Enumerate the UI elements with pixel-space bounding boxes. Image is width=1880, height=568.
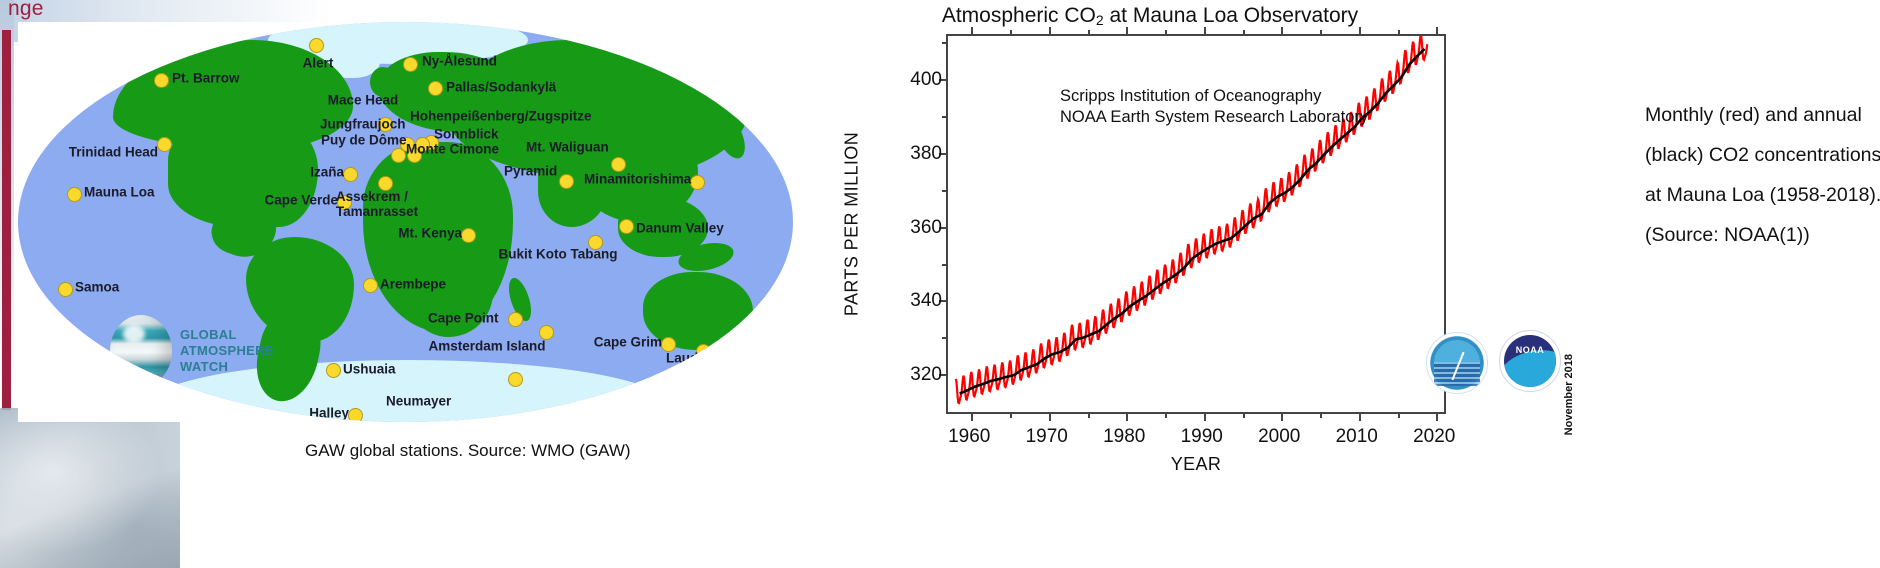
x-tick-mark	[1204, 412, 1206, 421]
station-label-hohenpeissenberg-zugspitze: Hohenpeißenberg/Zugspitze	[410, 110, 592, 125]
station-label-pallas-sodankyla: Pallas/Sodankylä	[446, 81, 556, 96]
x-tick-mark	[1204, 27, 1206, 36]
station-label-assekrem-tamanrasset: Assekrem / Tamanrasset	[336, 190, 418, 220]
y-tick-label: 400	[910, 69, 942, 91]
station-dot-danum-valley[interactable]	[619, 219, 634, 234]
y-minor-tick-mark	[942, 190, 948, 192]
chart-title-subscript: 2	[1096, 12, 1104, 28]
chart-title: Atmospheric CO2 at Mauna Loa Observatory	[830, 4, 1470, 28]
x-minor-tick-mark	[1398, 412, 1400, 418]
y-tick-label: 380	[910, 143, 942, 165]
gaw-logo: GLOBAL ATMOSPHERE WATCH	[110, 315, 270, 387]
x-tick-mark	[1436, 412, 1438, 421]
station-dot-cape-point-marker[interactable]	[508, 312, 523, 327]
x-tick-mark	[1281, 27, 1283, 36]
station-label-samoa: Samoa	[75, 281, 119, 296]
x-tick-mark	[1049, 412, 1051, 421]
station-label-sonnblick: Sonnblick	[434, 128, 499, 143]
x-tick-label: 1960	[948, 426, 990, 448]
landmass-new-zealand	[747, 337, 790, 381]
station-label-danum-valley: Danum Valley	[636, 222, 724, 237]
gaw-logo-text: GLOBAL ATMOSPHERE WATCH	[180, 327, 274, 375]
noaa-logo: NOAA	[1499, 330, 1561, 392]
x-tick-mark	[1126, 27, 1128, 36]
x-tick-label: 1970	[1026, 426, 1068, 448]
gaw-station-map: AlertNy-ÅlesundPt. BarrowPallas/Sodankyl…	[18, 22, 793, 422]
x-tick-label: 2020	[1413, 426, 1455, 448]
gaw-orb-icon	[110, 315, 172, 387]
x-tick-mark	[1359, 412, 1361, 421]
co2-chart: Atmospheric CO2 at Mauna Loa Observatory…	[830, 2, 1570, 502]
station-dot-minamitorishima[interactable]	[690, 175, 705, 190]
station-label-trinidad-head: Trinidad Head	[69, 146, 158, 161]
station-label-mauna-loa: Mauna Loa	[84, 186, 155, 201]
x-minor-tick-mark	[1320, 30, 1322, 36]
x-tick-mark	[1281, 412, 1283, 421]
station-label-ushuaia: Ushuaia	[343, 363, 396, 378]
station-dot-halley[interactable]	[348, 408, 363, 423]
station-label-bukit-koto-tabang: Bukit Koto Tabang	[499, 248, 618, 263]
x-minor-tick-mark	[1398, 30, 1400, 36]
station-label-neumayer: Neumayer	[386, 395, 451, 410]
station-dot-cape-grim[interactable]	[661, 337, 676, 352]
chart-date-stamp: November 2018	[1563, 354, 1575, 435]
station-dot-izana[interactable]	[343, 167, 358, 182]
station-label-pyramid: Pyramid	[504, 165, 557, 180]
x-minor-tick-mark	[1165, 412, 1167, 418]
station-dot-pallas-sodankyla[interactable]	[428, 81, 443, 96]
station-dot-cape-point[interactable]	[508, 372, 523, 387]
station-label-mace-head: Mace Head	[328, 94, 399, 109]
figure-caption: Monthly (red) and annual (black) CO2 con…	[1645, 96, 1880, 256]
chart-source-note: Scripps Institution of Oceanography NOAA…	[1060, 86, 1368, 129]
gaw-logo-line-3: WATCH	[180, 359, 274, 375]
background-accent-bar	[2, 30, 11, 410]
station-dot-mt-waliguan[interactable]	[611, 157, 626, 172]
x-axis-title: YEAR	[946, 454, 1446, 475]
x-minor-tick-mark	[1320, 412, 1322, 418]
station-dot-mauna-loa[interactable]	[67, 187, 82, 202]
y-tick-label: 360	[910, 217, 942, 239]
chart-title-main: Atmospheric CO	[942, 4, 1096, 27]
y-tick-label: 340	[910, 290, 942, 312]
station-dot-arembepe[interactable]	[363, 278, 378, 293]
station-dot-mt-kenya[interactable]	[461, 228, 476, 243]
station-dot-amsterdam-island[interactable]	[539, 325, 554, 340]
station-label-pt-barrow: Pt. Barrow	[172, 72, 240, 87]
y-minor-tick-mark	[942, 337, 948, 339]
gaw-logo-line-1: GLOBAL	[180, 327, 274, 343]
station-label-izana: Izaña	[310, 166, 344, 181]
x-minor-tick-mark	[1243, 412, 1245, 418]
station-label-amsterdam-island: Amsterdam Island	[428, 340, 545, 355]
gaw-logo-line-2: ATMOSPHERE	[180, 343, 274, 359]
x-tick-label: 2010	[1336, 426, 1378, 448]
x-minor-tick-mark	[1088, 30, 1090, 36]
x-minor-tick-mark	[1010, 30, 1012, 36]
station-dot-ushuaia[interactable]	[326, 363, 341, 378]
station-label-ny-alesund: Ny-Ålesund	[422, 55, 497, 70]
map-frame: AlertNy-ÅlesundPt. BarrowPallas/Sodankyl…	[18, 22, 793, 422]
y-axis-title: PARTS PER MILLION	[842, 132, 863, 316]
station-label-monte-cimone: Monte Cimone	[406, 143, 499, 158]
station-dot-pyramid[interactable]	[559, 174, 574, 189]
chart-title-rest: at Mauna Loa Observatory	[1104, 4, 1358, 27]
station-label-lauder: Lauder	[666, 352, 711, 367]
x-tick-mark	[1359, 27, 1361, 36]
background-photo	[0, 408, 180, 568]
station-dot-ny-alesund[interactable]	[403, 57, 418, 72]
noaa-logo-ring: NOAA	[1504, 335, 1556, 387]
station-label-mt-kenya: Mt. Kenya	[398, 227, 462, 242]
world-globe: AlertNy-ÅlesundPt. BarrowPallas/Sodankyl…	[18, 22, 793, 422]
y-tick-label: 320	[910, 364, 942, 386]
x-tick-mark	[971, 412, 973, 421]
plot-area: Scripps Institution of Oceanography NOAA…	[946, 34, 1446, 414]
x-minor-tick-mark	[1088, 412, 1090, 418]
y-minor-tick-mark	[942, 42, 948, 44]
x-minor-tick-mark	[1165, 30, 1167, 36]
station-label-alert: Alert	[303, 57, 334, 72]
noaa-logo-text: NOAA	[1504, 345, 1556, 355]
x-tick-mark	[1436, 27, 1438, 36]
slide-title: nge	[8, 0, 44, 21]
station-dot-alert[interactable]	[309, 38, 324, 53]
station-label-cape-point: Cape Point	[428, 312, 499, 327]
station-dot-trinidad-head[interactable]	[157, 137, 172, 152]
station-label-cape-verde: Cape Verde	[264, 194, 338, 209]
x-tick-mark	[971, 27, 973, 36]
plot-wrapper: PARTS PER MILLION Scripps Institution of…	[850, 34, 1550, 454]
x-tick-mark	[1049, 27, 1051, 36]
station-label-arembepe: Arembepe	[380, 278, 446, 293]
x-tick-label: 1980	[1103, 426, 1145, 448]
station-label-mt-waliguan: Mt. Waliguan	[526, 141, 609, 156]
map-caption: GAW global stations. Source: WMO (GAW)	[305, 441, 631, 461]
station-label-halley: Halley	[309, 407, 349, 422]
station-dot-pt-barrow[interactable]	[154, 73, 169, 88]
x-minor-tick-mark	[1010, 412, 1012, 418]
station-label-puy-de-dome: Puy de Dôme	[321, 134, 407, 149]
x-tick-label: 2000	[1258, 426, 1300, 448]
y-minor-tick-mark	[942, 264, 948, 266]
station-label-jungfraujoch: Jungfraujoch	[320, 118, 406, 133]
station-dot-puy-de-dome[interactable]	[391, 148, 406, 163]
scripps-logo	[1426, 332, 1488, 394]
station-label-cape-grim: Cape Grim	[594, 336, 662, 351]
x-minor-tick-mark	[1243, 30, 1245, 36]
x-tick-label: 1990	[1181, 426, 1223, 448]
station-dot-samoa[interactable]	[58, 282, 73, 297]
station-label-minamitorishima: Minamitorishima	[584, 173, 691, 188]
x-tick-mark	[1126, 412, 1128, 421]
y-minor-tick-mark	[942, 116, 948, 118]
